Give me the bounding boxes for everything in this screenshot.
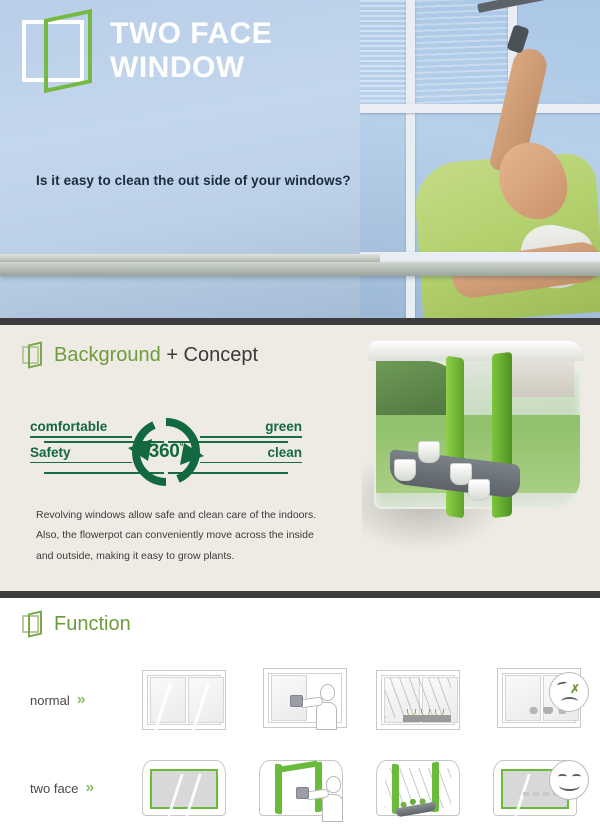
function-section-title: Function <box>54 613 131 636</box>
cleaning-cloth-icon <box>290 695 303 707</box>
brand-logo: TWO FACE WINDOW <box>22 14 272 88</box>
window-logo-icon <box>22 14 96 88</box>
background-concept-section: Background + Concept comfortable Safety … <box>0 325 600 591</box>
row-label-text: two face <box>30 781 78 796</box>
chevron-right-icon: » <box>77 691 83 709</box>
diagram-word-clean: clean <box>200 446 302 462</box>
diagram-underline <box>200 436 302 438</box>
window-sash-right <box>188 677 224 723</box>
happy-face-icon <box>549 760 589 800</box>
person-cleaning-icon <box>311 684 337 730</box>
face-eye-left <box>558 774 567 779</box>
row-label-normal: normal » <box>22 691 138 709</box>
hero-banner: TWO FACE WINDOW Is it easy to clean the … <box>0 0 600 318</box>
diagram-word-comfortable: comfortable <box>30 420 132 436</box>
row-label-two-face: two face » <box>22 779 138 797</box>
diagram-word-green: green <box>200 420 302 436</box>
cleaning-cloth-icon <box>296 787 309 799</box>
window-icon-panel <box>28 341 42 368</box>
window-mullion-horizontal <box>360 252 600 262</box>
glass-glint <box>153 683 172 733</box>
chevron-right-icon: » <box>85 779 91 797</box>
function-row-two-face: two face » <box>22 744 582 832</box>
function-comparison-grid: normal » <box>22 656 582 832</box>
green-framed-glass <box>150 769 218 809</box>
function-row-normal: normal » <box>22 656 582 744</box>
brand-name-line2: WINDOW <box>110 51 272 85</box>
face-mouth-sad <box>561 697 578 706</box>
function-section-header: Function <box>0 598 600 636</box>
diagram-word-safety: Safety <box>30 446 132 462</box>
wet-pane-left <box>360 0 406 104</box>
face-brow <box>557 681 568 687</box>
window-icon <box>22 343 44 367</box>
face-eye-x: ✗ <box>570 683 580 695</box>
brand-name-line1: TWO FACE <box>110 17 272 51</box>
person-body <box>316 702 337 730</box>
two-face-window-healthy-happy <box>489 754 581 822</box>
rotation-degree-label: 360° <box>149 441 184 463</box>
copy-line-1: Revolving windows allow safe and clean c… <box>36 505 318 525</box>
two-face-cells <box>138 754 581 822</box>
render-flowerpot <box>394 459 416 481</box>
glass-glint <box>191 683 210 733</box>
row-label-text: normal <box>30 693 70 708</box>
concept-render <box>342 331 594 561</box>
green-panel-rotating <box>275 763 282 814</box>
brand-name: TWO FACE WINDOW <box>110 17 272 84</box>
render-green-panel-left <box>446 356 464 519</box>
rotation-diagram: comfortable Safety green clean 360° <box>30 420 302 484</box>
background-title-green: Background <box>54 344 161 366</box>
diagram-left-words: comfortable Safety <box>30 420 132 471</box>
window-sash-left <box>505 675 541 721</box>
two-face-window-rotated-rain-plants <box>372 754 464 822</box>
glass-glint <box>167 774 183 817</box>
diagram-underline <box>30 436 132 438</box>
diagram-underline <box>200 462 302 464</box>
section-divider <box>0 591 600 598</box>
diagram-right-words: green clean <box>200 420 302 471</box>
curved-window-frame <box>142 760 226 816</box>
background-section-title: Background + Concept <box>54 344 258 367</box>
glass-glint <box>185 774 201 817</box>
diagram-underline <box>30 462 132 464</box>
window-frame <box>142 670 226 730</box>
two-face-window-closed <box>138 754 230 822</box>
copy-line-2: Also, the flowerpot can conveniently mov… <box>36 525 318 545</box>
render-top-frame <box>368 341 584 361</box>
normal-window-cleaning-inside <box>255 666 347 734</box>
normal-window-rain-plants <box>372 666 464 734</box>
sad-face-icon: ✗ <box>549 672 589 712</box>
normal-window-dead-plants-sad: ✗ <box>489 666 581 734</box>
two-face-window-rotated-cleaning <box>255 754 347 822</box>
poster-page: TWO FACE WINDOW Is it easy to clean the … <box>0 0 600 830</box>
face-eye-right <box>572 774 581 779</box>
person-cleaning-icon <box>317 776 343 822</box>
background-copy: Revolving windows allow safe and clean c… <box>36 505 318 566</box>
window-frame <box>376 670 460 730</box>
frame-rail-lower <box>0 262 600 276</box>
render-flowerpot <box>418 441 440 463</box>
window-icon-panel <box>28 610 42 637</box>
window-icon <box>22 612 44 636</box>
planter-soil <box>403 715 451 722</box>
hero-question: Is it easy to clean the out side of your… <box>36 173 351 188</box>
face-mouth-happy <box>559 780 580 791</box>
normal-window-closed <box>138 666 230 734</box>
window-sash-left <box>150 677 186 723</box>
person-body <box>322 794 343 822</box>
circular-arrows-icon: 360° <box>126 412 206 492</box>
background-title-dark: + Concept <box>166 344 258 366</box>
copy-line-3: and outside, making it easy to grow plan… <box>36 546 318 566</box>
render-flowerpot <box>468 479 490 501</box>
logo-parallelogram-shape <box>44 9 92 93</box>
wet-pane-right <box>415 0 508 104</box>
window-mullion-horizontal <box>360 104 600 113</box>
function-section: Function normal » <box>0 598 600 830</box>
normal-cells: ✗ <box>138 666 581 734</box>
section-divider <box>0 318 600 325</box>
